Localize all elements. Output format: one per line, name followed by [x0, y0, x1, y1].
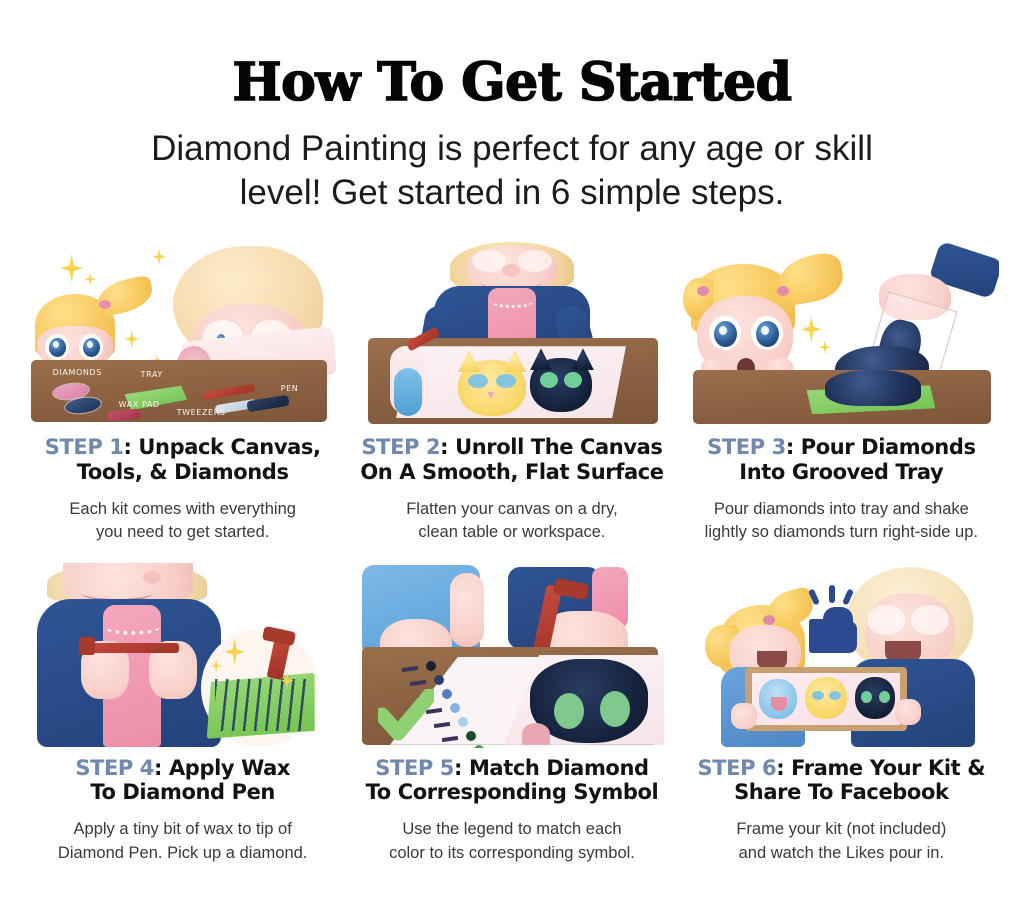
- art-label-tray: TRAY: [141, 370, 163, 379]
- legend-color-dot: [474, 745, 484, 748]
- step-separator: :: [454, 756, 462, 780]
- desc-line-1: Flatten your canvas on a dry,: [406, 498, 618, 521]
- eye-highlight: [53, 341, 59, 348]
- step-description-3: Pour diamonds into tray and shake lightl…: [695, 498, 988, 545]
- wax-grooves: [215, 679, 309, 731]
- girl-pigtail-right: [774, 251, 847, 308]
- step-description-6: Frame your kit (not included) and watch …: [726, 818, 956, 865]
- illustration-pour-diamonds: [683, 242, 999, 427]
- girl-ponytail: [94, 275, 155, 318]
- cat-face-yellow: [805, 677, 847, 719]
- child-arm: [450, 573, 484, 647]
- illustration-unroll-canvas: [354, 242, 670, 427]
- desc-line-2: clean table or workspace.: [406, 521, 618, 544]
- page-subtitle: Diamond Painting is perfect for any age …: [0, 127, 1024, 217]
- diamond-pen: [87, 643, 179, 653]
- step-title-2: STEP 2: Unroll The Canvas On A Smooth, F…: [354, 435, 669, 484]
- desc-line-2: and watch the Likes pour in.: [736, 842, 946, 865]
- girl-hair-tie: [763, 615, 775, 625]
- checkmark-icon: [378, 689, 434, 741]
- step-title-line-2: To Diamond Pen: [90, 780, 275, 804]
- desc-line-1: Each kit comes with everything: [69, 498, 296, 521]
- sparkle-icon: [819, 340, 830, 354]
- art-label-diamonds: DIAMONDS: [53, 368, 102, 377]
- step-number-4: STEP 4: [75, 756, 154, 780]
- step-title-1: STEP 1: Unpack Canvas, Tools, & Diamonds: [39, 435, 327, 484]
- header: How To Get Started Diamond Painting is p…: [0, 56, 1024, 216]
- desc-line-1: Use the legend to match each: [389, 818, 635, 841]
- legend-color-dot: [458, 717, 468, 727]
- facebook-thumb-palm-icon: [823, 621, 857, 653]
- step-description-5: Use the legend to match each color to it…: [379, 818, 645, 865]
- pen-tip: [79, 637, 95, 655]
- step-number-3: STEP 3: [707, 435, 786, 459]
- step-card-2: STEP 2: Unroll The Canvas On A Smooth, F…: [347, 242, 676, 545]
- like-spark-icon: [829, 585, 835, 603]
- step-description-2: Flatten your canvas on a dry, clean tabl…: [396, 498, 628, 545]
- desc-line-2: lightly so diamonds turn right-side up.: [705, 521, 978, 544]
- step-title-line-1: Apply Wax: [169, 756, 290, 780]
- cat-ear-pink-inner: [522, 723, 550, 745]
- desc-line-2: you need to get started.: [69, 521, 296, 544]
- illustration-unpack-supplies: CANVAS DIAMONDS TRAY WAX PAD TWEEZERS: [25, 242, 341, 427]
- woman-necklace: [103, 617, 161, 635]
- canvas-backing-blue: [394, 368, 422, 416]
- sparkle-icon: [801, 316, 821, 342]
- step-card-3: STEP 3: Pour Diamonds Into Grooved Tray …: [677, 242, 1006, 545]
- step-separator: :: [123, 435, 131, 459]
- grandma-glasses: [911, 605, 949, 635]
- steps-grid: CANVAS DIAMONDS TRAY WAX PAD TWEEZERS: [0, 242, 1024, 865]
- sparkle-icon: [153, 248, 166, 265]
- girl-hair-tie: [99, 300, 111, 309]
- step-title-6: STEP 6: Frame Your Kit & Share To Facebo…: [691, 756, 991, 805]
- diamond-pile-in-tray: [825, 370, 921, 406]
- step-separator: :: [786, 435, 794, 459]
- step-number-5: STEP 5: [375, 756, 454, 780]
- step-title-line-1: Frame Your Kit &: [791, 756, 985, 780]
- step-title-line-1: Unpack Canvas,: [138, 435, 320, 459]
- girl-hand: [731, 703, 757, 729]
- desc-line-1: Apply a tiny bit of wax to tip of: [58, 818, 307, 841]
- desc-line-2: Diamond Pen. Pick up a diamond.: [58, 842, 307, 865]
- step-number-1: STEP 1: [45, 435, 124, 459]
- cat-mouth-blue: [771, 697, 787, 711]
- legend-color-dot: [434, 675, 444, 685]
- illustration-apply-wax: [25, 563, 341, 748]
- step-title-line-2: To Corresponding Symbol: [366, 780, 659, 804]
- page-title: How To Get Started: [0, 56, 1024, 111]
- step-title-5: STEP 5: Match Diamond To Corresponding S…: [360, 756, 665, 805]
- step-description-1: Each kit comes with everything you need …: [59, 498, 306, 545]
- step-title-line-2: Share To Facebook: [734, 780, 948, 804]
- step-number-2: STEP 2: [361, 435, 440, 459]
- illustration-match-symbol: [354, 563, 670, 748]
- desc-line-1: Pour diamonds into tray and shake: [705, 498, 978, 521]
- step-description-4: Apply a tiny bit of wax to tip of Diamon…: [48, 818, 317, 865]
- step-title-line-2: Into Grooved Tray: [739, 460, 943, 484]
- step-separator: :: [776, 756, 784, 780]
- subtitle-line-1: Diamond Painting is perfect for any age …: [60, 127, 964, 172]
- step-card-6: STEP 6: Frame Your Kit & Share To Facebo…: [677, 563, 1006, 866]
- cat-eye-black: [554, 693, 584, 729]
- illustration-frame-and-share: [683, 563, 999, 748]
- step-title-4: STEP 4: Apply Wax To Diamond Pen: [69, 756, 296, 805]
- art-label-wax-pad: WAX PAD: [119, 400, 160, 409]
- step-title-line-1: Unroll The Canvas: [455, 435, 662, 459]
- step-title-3: STEP 3: Pour Diamonds Into Grooved Tray: [701, 435, 981, 484]
- step-card-1: CANVAS DIAMONDS TRAY WAX PAD TWEEZERS: [18, 242, 347, 545]
- sparkle-icon: [85, 272, 96, 286]
- step-title-line-2: Tools, & Diamonds: [77, 460, 289, 484]
- legend-color-dot: [426, 661, 436, 671]
- legend-color-dot: [442, 689, 452, 699]
- step-card-5: STEP 5: Match Diamond To Corresponding S…: [347, 563, 676, 866]
- eye-highlight: [87, 341, 93, 348]
- desc-line-1: Frame your kit (not included): [736, 818, 946, 841]
- infographic-page: How To Get Started Diamond Painting is p…: [0, 0, 1024, 923]
- step-number-6: STEP 6: [697, 756, 776, 780]
- step-title-line-2: On A Smooth, Flat Surface: [360, 460, 663, 484]
- cat-eye-black: [600, 691, 630, 727]
- step-separator: :: [154, 756, 162, 780]
- sparkle-icon: [125, 330, 139, 348]
- grandma-glasses: [867, 605, 905, 635]
- grandma-hand: [895, 699, 921, 725]
- legend-color-dot: [450, 703, 460, 713]
- legend-color-dot: [466, 731, 476, 741]
- step-card-4: STEP 4: Apply Wax To Diamond Pen Apply a…: [18, 563, 347, 866]
- cat-eye-yellow: [829, 691, 841, 700]
- step-title-line-1: Match Diamond: [469, 756, 649, 780]
- art-label-canvas: CANVAS: [241, 348, 277, 357]
- desc-line-2: color to its corresponding symbol.: [389, 842, 635, 865]
- art-label-pen: PEN: [281, 384, 299, 393]
- art-label-tweezers: TWEEZERS: [177, 408, 226, 417]
- step-separator: :: [440, 435, 448, 459]
- sparkle-icon: [61, 254, 83, 282]
- cat-eye-yellow: [812, 691, 824, 700]
- step-title-line-1: Pour Diamonds: [801, 435, 976, 459]
- woman-nose: [143, 571, 161, 584]
- subtitle-line-2: level! Get started in 6 simple steps.: [60, 171, 964, 216]
